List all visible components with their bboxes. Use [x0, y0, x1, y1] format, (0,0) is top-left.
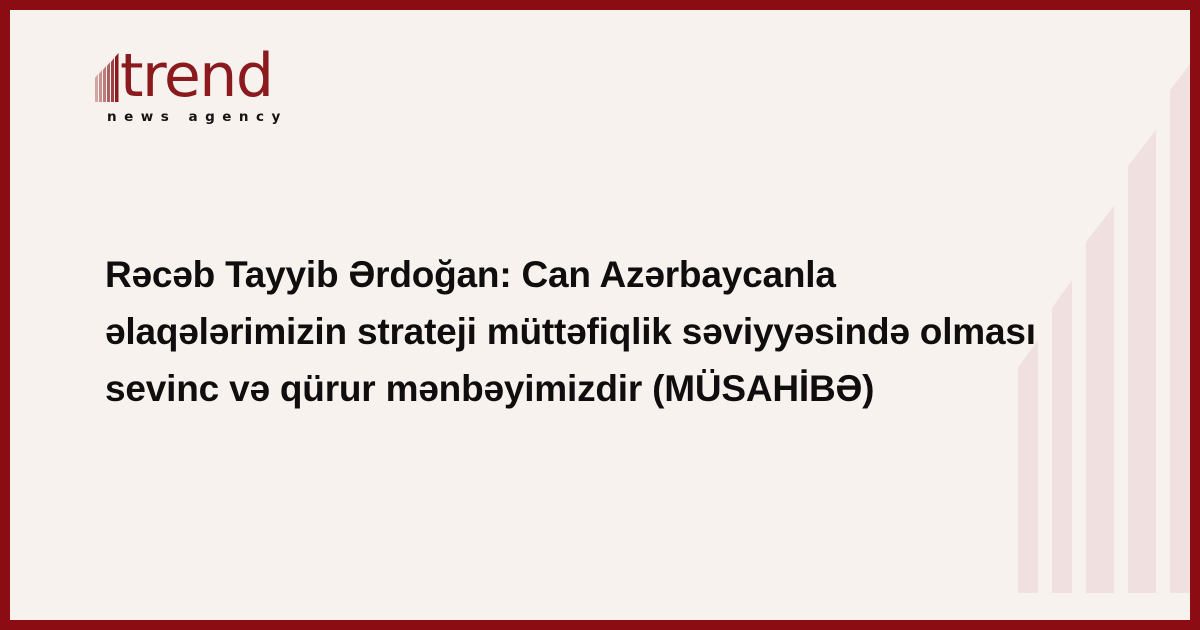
logo-mark-bar [103, 66, 106, 102]
watermark-bar [1086, 206, 1114, 593]
logo-wordmark: trend [120, 49, 272, 103]
logo-mark-bar [99, 70, 102, 102]
ascending-bars-mark-icon [95, 52, 121, 102]
card-canvas: trend news agency Rəcəb Tayyib Ərdoğan: … [10, 10, 1190, 620]
logo-mark-bar [95, 74, 98, 102]
watermark-bar [1128, 130, 1156, 593]
logo-tagline: news agency [107, 109, 325, 125]
headline-text: Rəcəb Tayyib Ərdoğan: Can Azərbaycanla ə… [105, 246, 1085, 417]
logo-mark-bar [115, 53, 119, 102]
social-share-card: trend news agency Rəcəb Tayyib Ərdoğan: … [0, 0, 1200, 630]
watermark-bar [1170, 54, 1190, 593]
logo-mark-bar [107, 62, 110, 102]
logo-mark-bar [111, 58, 114, 102]
logo-row: trend [95, 45, 325, 103]
trend-news-agency-logo[interactable]: trend news agency [95, 45, 325, 125]
